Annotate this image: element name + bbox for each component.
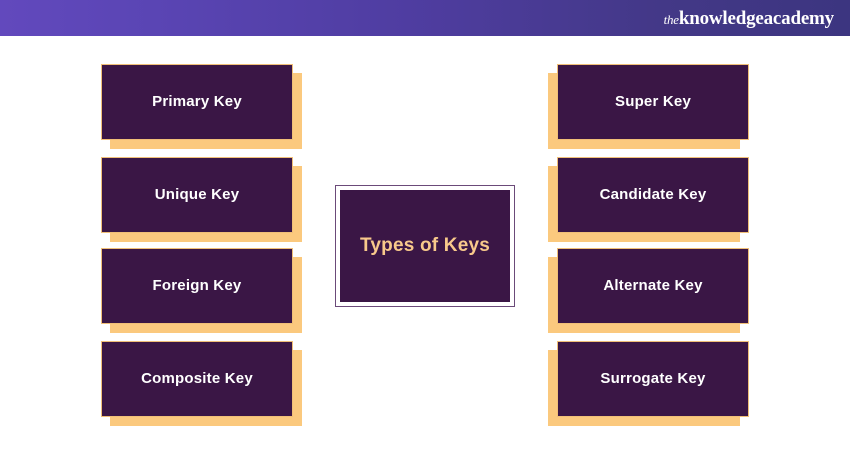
brand-logo: theknowledgeacademy [664, 9, 834, 28]
node-label: Alternate Key [603, 277, 702, 295]
node-body: Primary Key [101, 64, 293, 140]
types-of-keys-diagram: Primary Key Unique Key Foreign Key Compo… [0, 36, 850, 450]
node-foreign-key[interactable]: Foreign Key [101, 248, 293, 324]
node-label: Primary Key [152, 93, 242, 111]
node-composite-key[interactable]: Composite Key [101, 341, 293, 417]
node-body: Candidate Key [557, 157, 749, 233]
center-node-body: Types of Keys [340, 190, 510, 302]
node-body: Composite Key [101, 341, 293, 417]
node-super-key[interactable]: Super Key [557, 64, 749, 140]
node-body: Foreign Key [101, 248, 293, 324]
node-surrogate-key[interactable]: Surrogate Key [557, 341, 749, 417]
node-body: Surrogate Key [557, 341, 749, 417]
node-label: Candidate Key [600, 186, 707, 204]
center-node-types-of-keys[interactable]: Types of Keys [335, 185, 515, 307]
page-header: theknowledgeacademy [0, 0, 850, 36]
center-node-label: Types of Keys [360, 235, 490, 257]
node-label: Composite Key [141, 370, 253, 388]
node-body: Alternate Key [557, 248, 749, 324]
node-alternate-key[interactable]: Alternate Key [557, 248, 749, 324]
node-label: Surrogate Key [600, 370, 705, 388]
brand-logo-main: knowledgeacademy [679, 8, 834, 29]
node-label: Super Key [615, 93, 691, 111]
node-body: Super Key [557, 64, 749, 140]
brand-logo-the: the [664, 12, 679, 27]
node-label: Unique Key [155, 186, 240, 204]
node-primary-key[interactable]: Primary Key [101, 64, 293, 140]
node-label: Foreign Key [153, 277, 242, 295]
node-body: Unique Key [101, 157, 293, 233]
node-unique-key[interactable]: Unique Key [101, 157, 293, 233]
node-candidate-key[interactable]: Candidate Key [557, 157, 749, 233]
